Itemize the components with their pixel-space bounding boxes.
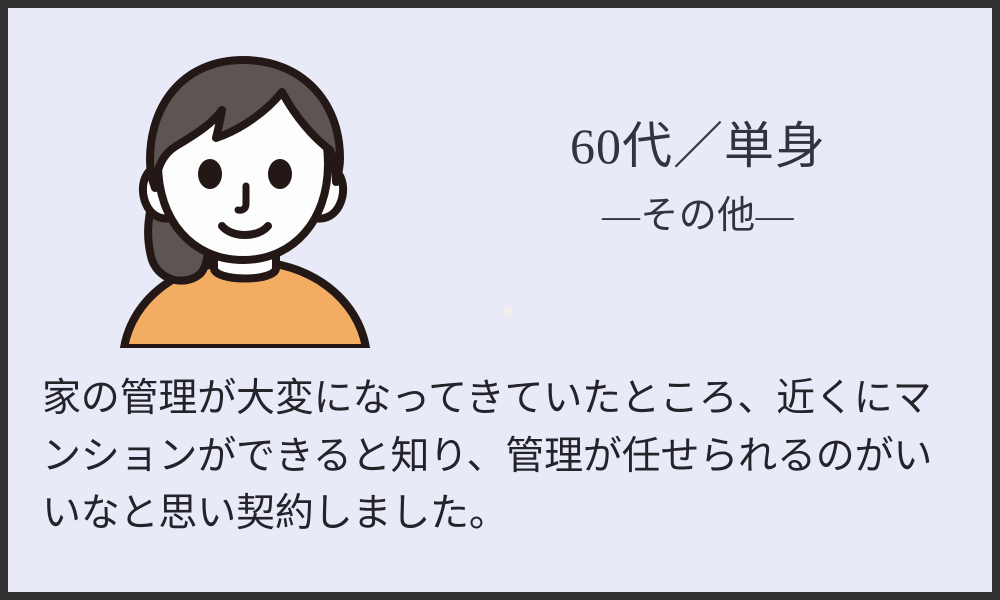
person-avatar-illustration	[100, 46, 390, 348]
card-top-region: 60代／単身 ―その他―	[8, 8, 992, 348]
testimonial-body: 家の管理が大変になってきていたところ、近くにマンションができると知り、管理が任せ…	[42, 370, 958, 543]
persona-title: 60代／単身	[448, 118, 948, 174]
heading-block: 60代／単身 ―その他―	[448, 118, 948, 238]
persona-subtitle: ―その他―	[448, 196, 948, 238]
testimonial-card: 60代／単身 ―その他― 家の管理が大変になってきていたところ、近くにマンション…	[0, 0, 1000, 600]
